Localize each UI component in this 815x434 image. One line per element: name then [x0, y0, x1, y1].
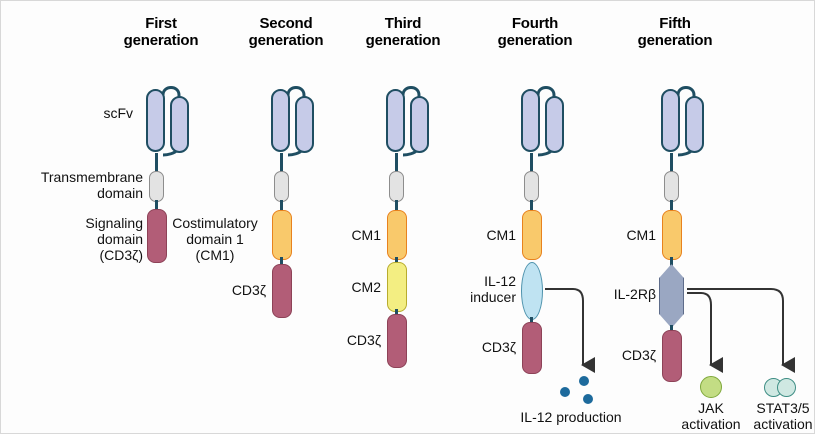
label-cd3zeta-fifth: CD3ζ [589, 347, 656, 363]
scfv-domain-fifth [656, 83, 716, 169]
label-cd3zeta-third: CD3ζ [314, 332, 381, 348]
label-cm1-fifth: CM1 [594, 227, 656, 243]
title-line-2: generation [333, 32, 473, 49]
scfv-domain-third [381, 83, 441, 169]
scfv-domain-first [141, 83, 201, 169]
il12-dot-3 [583, 394, 593, 404]
label-transmembrane-line2: domain [3, 185, 143, 201]
arrow-stat [687, 289, 783, 365]
column-title-first: First generation [91, 15, 231, 49]
label-costim-line3: (CM1) [159, 247, 271, 263]
cm1-domain-second [272, 210, 292, 260]
stat-circle-right [777, 378, 796, 397]
column-title-fifth: Fifth generation [605, 15, 745, 49]
label-cd3zeta-second: CD3ζ [201, 282, 266, 298]
transmembrane-domain-second [274, 171, 289, 202]
car-generations-figure: First generation Second generation Third… [0, 0, 815, 434]
il2rb-domain [659, 264, 684, 328]
title-line-1: First [145, 15, 177, 32]
arrow-il12-production [545, 289, 583, 365]
il12-dot-2 [560, 387, 570, 397]
label-stat-line1: STAT3/5 [738, 400, 815, 416]
jak-circle [700, 376, 722, 398]
label-scfv: scFv [33, 105, 133, 121]
label-il12-production: IL-12 production [491, 409, 651, 425]
cm2-domain-third [387, 262, 407, 312]
cd3zeta-domain-fifth [662, 330, 682, 382]
cm1-domain-fifth [662, 210, 682, 260]
label-signaling-line3: (CD3ζ) [23, 247, 143, 263]
title-line-2: generation [91, 32, 231, 49]
il12-dot-1 [579, 376, 589, 386]
title-line-1: Third [385, 15, 422, 32]
arrow-jak [687, 293, 711, 365]
label-costim-line1: Costimulatory [159, 215, 271, 231]
label-cd3zeta-fourth: CD3ζ [449, 339, 516, 355]
title-line-2: generation [465, 32, 605, 49]
label-signaling-line1: Signaling [23, 215, 143, 231]
cm1-domain-fourth [522, 210, 542, 260]
cd3zeta-domain-fourth [522, 322, 542, 374]
label-costim-line2: domain 1 [159, 231, 271, 247]
column-title-third: Third generation [333, 15, 473, 49]
label-signaling-line2: domain [23, 231, 143, 247]
transmembrane-domain-fifth [664, 171, 679, 202]
column-title-fourth: Fourth generation [465, 15, 605, 49]
title-line-1: Fifth [659, 15, 690, 32]
title-line-1: Second [260, 15, 313, 32]
il12-inducer-domain [521, 262, 543, 320]
transmembrane-domain-third [389, 171, 404, 202]
transmembrane-domain-first [149, 171, 164, 202]
label-il2rb: IL-2Rβ [579, 286, 656, 302]
label-cm1-third: CM1 [319, 227, 381, 243]
label-transmembrane-line1: Transmembrane [3, 169, 143, 185]
cd3zeta-domain-third [387, 314, 407, 368]
cd3zeta-domain-second [272, 264, 292, 318]
scfv-domain-second [266, 83, 326, 169]
title-line-2: generation [605, 32, 745, 49]
label-cm1-fourth: CM1 [454, 227, 516, 243]
title-line-1: Fourth [512, 15, 558, 32]
label-il12-line1: IL-12 [441, 273, 516, 289]
label-stat-line2: activation [733, 416, 815, 432]
transmembrane-domain-fourth [524, 171, 539, 202]
label-il12-line2: inducer [441, 289, 516, 305]
scfv-domain-fourth [516, 83, 576, 169]
label-cm2-third: CM2 [319, 279, 381, 295]
cm1-domain-third [387, 210, 407, 260]
